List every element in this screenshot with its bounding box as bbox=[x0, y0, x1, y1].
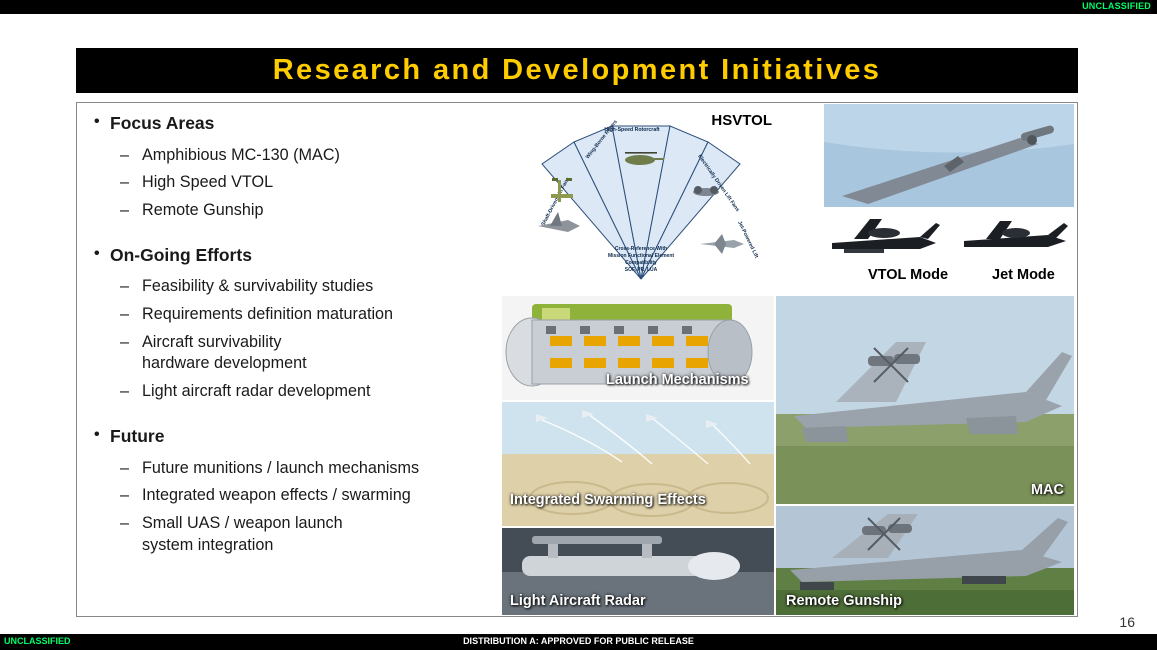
bullet-aircraft-survivability: Aircraft survivability hardware developm… bbox=[120, 332, 502, 375]
bottom-classification-bar: UNCLASSIFIED DISTRIBUTION A: APPROVED FO… bbox=[0, 634, 1157, 650]
bullet-list: Focus Areas Amphibious MC-130 (MAC) High… bbox=[84, 108, 502, 613]
distribution-statement: DISTRIBUTION A: APPROVED FOR PUBLIC RELE… bbox=[0, 636, 1157, 646]
page-title: Research and Development Initiatives bbox=[273, 54, 882, 87]
bullet-small-uas-line2: system integration bbox=[142, 536, 273, 554]
remote-gunship-photo: Remote Gunship bbox=[776, 506, 1074, 615]
bullet-remote-gunship: Remote Gunship bbox=[120, 200, 502, 222]
glider-illustration bbox=[824, 104, 1074, 207]
integrated-swarming-effects-photo: Integrated Swarming Effects bbox=[502, 402, 774, 526]
bullet-aircraft-survivability-line1: Aircraft survivability bbox=[142, 333, 281, 351]
bullet-feasibility-studies: Feasibility & survivability studies bbox=[120, 276, 502, 298]
diagram-center-line-1: Cross-Reference With bbox=[615, 246, 667, 252]
bullet-light-aircraft-radar: Light aircraft radar development bbox=[120, 381, 502, 403]
caption-vtol-mode: VTOL Mode bbox=[868, 267, 948, 283]
mac-amphibious-aircraft-photo: MAC bbox=[776, 296, 1074, 504]
bullet-high-speed-vtol: High Speed VTOL bbox=[120, 172, 502, 194]
light-aircraft-radar-photo: Light Aircraft Radar bbox=[502, 528, 774, 615]
slide-page-number: 16 bbox=[1119, 614, 1135, 630]
classification-top-label: UNCLASSIFIED bbox=[1082, 1, 1151, 11]
bullet-amphibious-mc130: Amphibious MC-130 (MAC) bbox=[120, 145, 502, 167]
diagram-center-line-2: Mission Functional Element bbox=[608, 253, 674, 259]
caption-remote-gunship: Remote Gunship bbox=[786, 593, 902, 609]
bullet-requirements-definition: Requirements definition maturation bbox=[120, 304, 502, 326]
bullet-integrated-weapon-effects: Integrated weapon effects / swarming bbox=[120, 485, 502, 507]
bullet-aircraft-survivability-line2: hardware development bbox=[142, 354, 307, 372]
hsvtol-fan-svg: Wing-Borne Rotors High-Speed Rotorcraft … bbox=[502, 104, 780, 294]
caption-light-aircraft-radar: Light Aircraft Radar bbox=[510, 593, 646, 609]
thumb-jet-lift-aircraft bbox=[700, 234, 744, 254]
slide-title-banner: Research and Development Initiatives bbox=[76, 48, 1078, 93]
bullet-future-munitions: Future munitions / launch mechanisms bbox=[120, 458, 502, 480]
bullet-small-uas: Small UAS / weapon launch system integra… bbox=[120, 513, 502, 556]
bullet-small-uas-line1: Small UAS / weapon launch bbox=[142, 514, 343, 532]
caption-integrated-swarming-effects: Integrated Swarming Effects bbox=[510, 492, 706, 508]
diagram-center-line-3: Compatibility bbox=[625, 260, 657, 266]
hsvtol-concept-diagram: Wing-Borne Rotors High-Speed Rotorcraft … bbox=[502, 104, 780, 294]
top-classification-bar: UNCLASSIFIED bbox=[0, 0, 1157, 14]
segment-label-jet-powered-lift: Jet-Powered Lift bbox=[736, 220, 759, 259]
hsvtol-diagram-label: HSVTOL bbox=[711, 112, 772, 129]
launch-mechanisms-photo: Launch Mechanisms bbox=[502, 296, 774, 400]
vtol-jet-mode-panel: VTOL Mode Jet Mode bbox=[824, 209, 1074, 294]
caption-jet-mode: Jet Mode bbox=[992, 267, 1055, 283]
bullet-ongoing-efforts: On-Going Efforts bbox=[92, 244, 502, 268]
caption-mac: MAC bbox=[1031, 482, 1064, 498]
high-altitude-aircraft-photo bbox=[824, 104, 1074, 207]
caption-launch-mechanisms: Launch Mechanisms bbox=[606, 372, 749, 388]
bullet-focus-areas: Focus Areas bbox=[92, 112, 502, 136]
image-mosaic: Wing-Borne Rotors High-Speed Rotorcraft … bbox=[502, 104, 1078, 615]
bullet-future: Future bbox=[92, 425, 502, 449]
segment-label-high-speed-rotorcraft: High-Speed Rotorcraft bbox=[604, 127, 660, 133]
diagram-center-line-4: SOF, PR, LUA bbox=[625, 267, 658, 273]
mac-illustration bbox=[776, 296, 1074, 504]
